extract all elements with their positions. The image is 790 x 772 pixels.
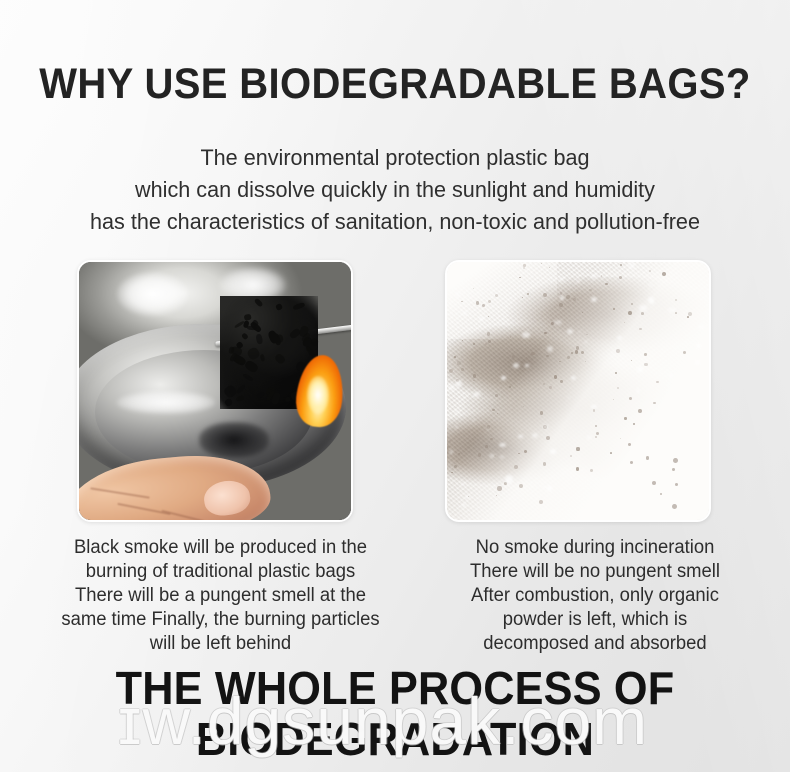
subtitle-line-3: has the characteristics of sanitation, n… xyxy=(16,206,774,238)
caption-right-line-2: There will be no pungent smell xyxy=(445,560,746,584)
caption-right-line-3: After combustion, only organic xyxy=(445,584,746,608)
organic-powder-photo xyxy=(445,260,711,522)
powder-specks xyxy=(447,262,709,520)
caption-left: Black smoke will be produced in the burn… xyxy=(53,536,388,656)
burning-plastic-photo xyxy=(77,260,353,522)
caption-left-line-3: There will be a pungent smell at the xyxy=(53,584,388,608)
subtitle-block: The environmental protection plastic bag… xyxy=(16,142,774,238)
caption-left-line-2: burning of traditional plastic bags xyxy=(53,560,388,584)
burning-plastic-photo-content xyxy=(79,262,351,520)
bottom-title-line-1: THE WHOLE PROCESS OF xyxy=(24,663,767,714)
organic-powder-photo-content xyxy=(447,262,709,520)
page-title: WHY USE BIODEGRADABLE BAGS? xyxy=(28,62,763,107)
caption-right-line-5: decomposed and absorbed xyxy=(445,632,746,656)
poster-canvas: WHY USE BIODEGRADABLE BAGS? The environm… xyxy=(0,0,790,772)
caption-left-line-5: will be left behind xyxy=(53,632,388,656)
bottom-title: THE WHOLE PROCESS OF BIODEGRADATION xyxy=(24,663,767,765)
steel-reflection-smudge xyxy=(199,422,270,458)
steel-highlight xyxy=(117,391,215,414)
caption-right-line-1: No smoke during incineration xyxy=(445,536,746,560)
bottom-title-line-2: BIODEGRADATION xyxy=(24,714,767,765)
caption-left-line-1: Black smoke will be produced in the xyxy=(53,536,388,560)
steel-highlight xyxy=(117,272,188,316)
caption-left-line-4: same time Finally, the burning particles xyxy=(53,608,388,632)
subtitle-line-2: which can dissolve quickly in the sunlig… xyxy=(16,174,774,206)
caption-right-line-4: powder is left, which is xyxy=(445,608,746,632)
caption-right: No smoke during incineration There will … xyxy=(445,536,746,656)
subtitle-line-1: The environmental protection plastic bag xyxy=(16,142,774,174)
